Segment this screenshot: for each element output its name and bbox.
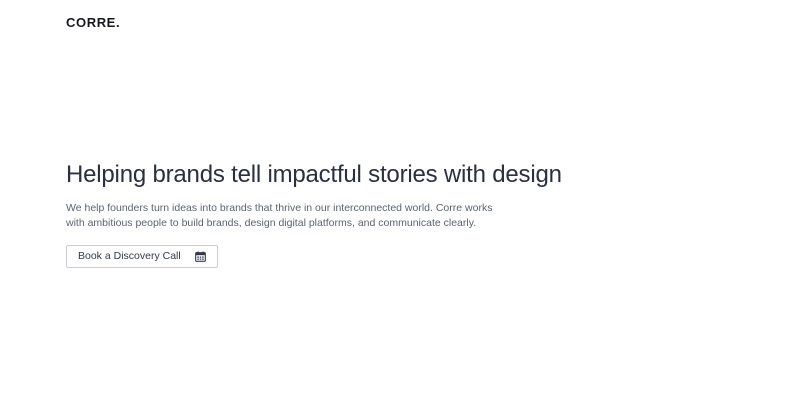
page-root: CORRE. Helping brands tell impactful sto… (0, 0, 800, 400)
cta-button-label: Book a Discovery Call (78, 251, 181, 262)
brand-logo[interactable]: CORRE. (66, 16, 120, 29)
page-title: Helping brands tell impactful stories wi… (66, 160, 586, 190)
calendar-icon (195, 251, 206, 262)
hero-description: We help founders turn ideas into brands … (66, 190, 512, 231)
book-discovery-call-button[interactable]: Book a Discovery Call (66, 245, 218, 268)
site-header: CORRE. (0, 0, 800, 44)
cta-row: Book a Discovery Call (66, 231, 586, 268)
hero-section: Helping brands tell impactful stories wi… (66, 160, 586, 268)
